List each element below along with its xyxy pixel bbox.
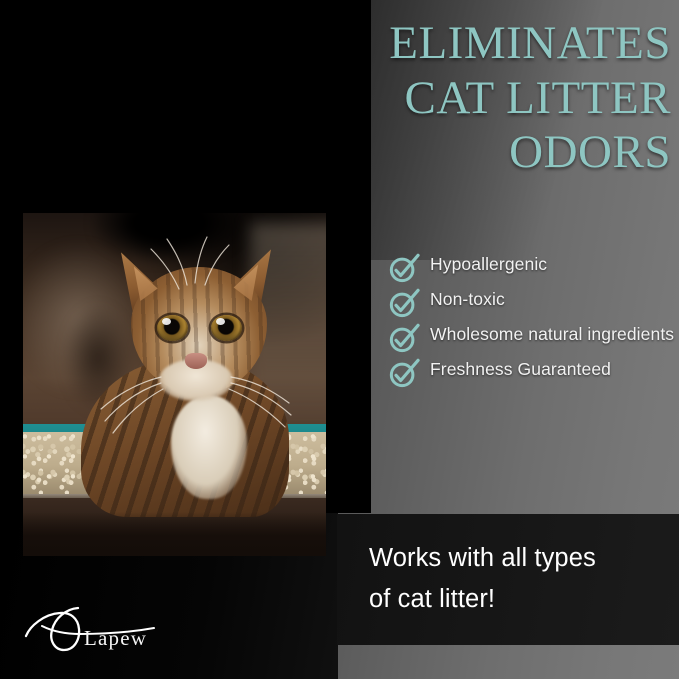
callout-box: Works with all types of cat litter! xyxy=(337,514,679,645)
kitten xyxy=(75,227,295,517)
photo-bottom-shadow xyxy=(23,512,326,556)
callout-line-2: of cat litter! xyxy=(369,579,679,620)
check-circle-icon xyxy=(388,288,420,318)
benefit-label: Non-toxic xyxy=(430,287,505,312)
headline-line-3: ODORS xyxy=(251,125,671,180)
check-circle-icon xyxy=(388,323,420,353)
benefit-label: Hypoallergenic xyxy=(430,252,547,277)
kitten-in-litter-box-photo xyxy=(23,213,326,556)
headline-line-2: CAT LITTER xyxy=(251,71,671,126)
product-infographic: ELIMINATES CAT LITTER ODORS Hypoallergen… xyxy=(0,0,679,679)
check-circle-icon xyxy=(388,253,420,283)
callout-line-1: Works with all types xyxy=(369,538,679,579)
benefit-item: Wholesome natural ingredients xyxy=(388,322,676,353)
logo-wordmark: Lapew xyxy=(84,626,147,651)
headline-line-1: ELIMINATES xyxy=(251,16,671,71)
check-circle-icon xyxy=(388,358,420,388)
benefit-item: Non-toxic xyxy=(388,287,676,318)
kitten-whiskers xyxy=(75,227,295,517)
benefits-list: Hypoallergenic Non-toxic Wholesome natur… xyxy=(388,252,676,392)
brand-logo: Lapew xyxy=(22,600,202,664)
benefit-label: Wholesome natural ingredients xyxy=(430,322,674,347)
benefit-item: Hypoallergenic xyxy=(388,252,676,283)
benefit-item: Freshness Guaranteed xyxy=(388,357,676,388)
headline: ELIMINATES CAT LITTER ODORS xyxy=(251,16,671,180)
benefit-label: Freshness Guaranteed xyxy=(430,357,611,382)
